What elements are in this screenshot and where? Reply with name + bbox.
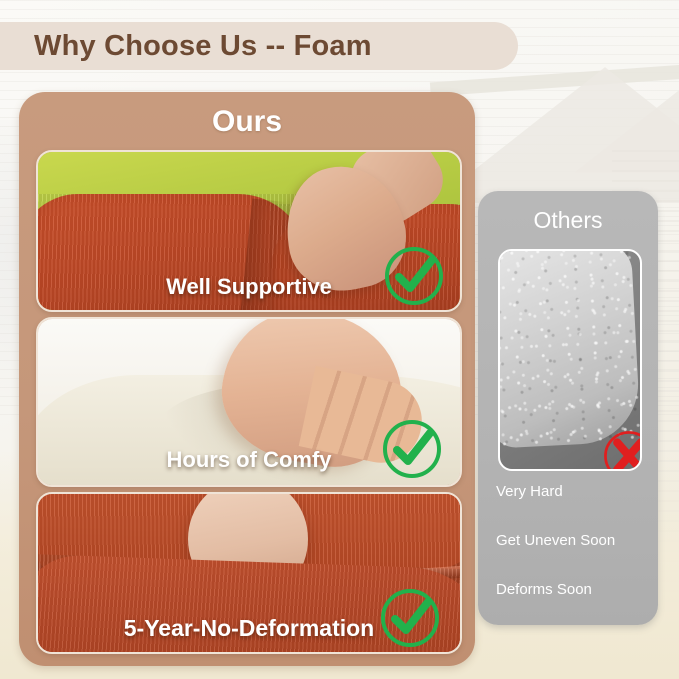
ours-panel-title: Ours — [19, 105, 475, 139]
ours-feature-card-3: 5-Year-No-Deformation — [36, 492, 462, 654]
ours-panel: Ours Well Supportive — [19, 92, 475, 666]
green-check-icon — [382, 244, 446, 308]
foam-grain-texture — [498, 249, 641, 449]
others-panel: Others Very Hard Get Uneven Soon Deforms… — [478, 191, 658, 625]
coarse-foam-block — [498, 249, 641, 449]
others-drawback-item: Deforms Soon — [478, 581, 658, 598]
page-title: Why Choose Us -- Foam — [34, 30, 372, 63]
header-banner: Why Choose Us -- Foam — [0, 22, 518, 70]
red-cross-icon — [600, 427, 642, 471]
ours-feature-card-2: Hours of Comfy — [36, 317, 462, 487]
others-panel-title: Others — [478, 207, 658, 234]
others-drawback-list: Very Hard Get Uneven Soon Deforms Soon — [478, 483, 658, 630]
ours-feature-card-1: Well Supportive — [36, 150, 462, 312]
green-check-icon — [380, 417, 444, 481]
others-photo — [498, 249, 642, 471]
infographic-canvas: Why Choose Us -- Foam Ours Well Supporti… — [0, 0, 679, 679]
green-check-icon — [378, 586, 442, 650]
others-drawback-item: Get Uneven Soon — [478, 532, 658, 549]
others-drawback-item: Very Hard — [478, 483, 658, 500]
